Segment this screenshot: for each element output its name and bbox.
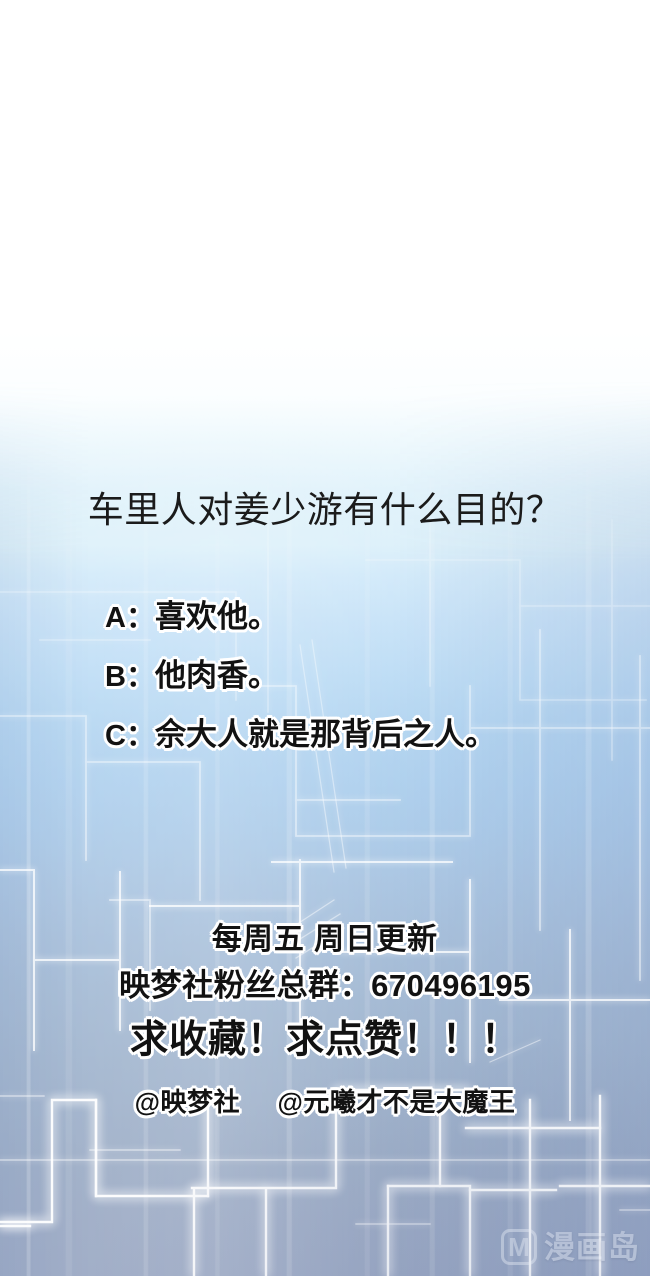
question-title: 车里人对姜少游有什么目的？	[0, 487, 650, 533]
option-c-key: C：	[105, 721, 155, 751]
manhuadao-logo-icon: M	[501, 1229, 537, 1265]
credits-handles: @映梦社 @元曦才不是大魔王	[0, 1076, 650, 1128]
comic-panel: 车里人对姜少游有什么目的？ A： 喜欢他。 B： 他肉香。 C： 佘大人就是那背…	[0, 0, 650, 1276]
answer-options-list: A： 喜欢他。 B： 他肉香。 C： 佘大人就是那背后之人。	[105, 602, 575, 779]
call-to-action-text: 求收藏！求点赞！！！	[0, 1010, 650, 1070]
promo-block: 每周五 周日更新 映梦社粉丝总群：670496195 求收藏！求点赞！！！ @映…	[0, 918, 650, 1128]
option-b-key: B：	[105, 662, 155, 692]
option-a-text: 喜欢他。	[155, 602, 279, 632]
panel-content: 车里人对姜少游有什么目的？ A： 喜欢他。 B： 他肉香。 C： 佘大人就是那背…	[0, 0, 650, 1276]
handle-primary: @映梦社	[135, 1087, 240, 1117]
option-a-key: A：	[105, 603, 155, 633]
option-b-text: 他肉香。	[155, 661, 279, 691]
option-row-a: A： 喜欢他。	[105, 602, 575, 633]
option-c-text: 佘大人就是那背后之人。	[155, 720, 496, 750]
update-schedule-text: 每周五 周日更新	[0, 918, 650, 962]
watermark-brand-text: 漫画岛	[544, 1232, 640, 1263]
option-row-c: C： 佘大人就是那背后之人。	[105, 720, 575, 751]
handle-secondary: @元曦才不是大魔王	[277, 1087, 515, 1117]
option-row-b: B： 他肉香。	[105, 661, 575, 692]
site-watermark: M 漫画岛	[501, 1229, 640, 1265]
fan-group-text: 映梦社粉丝总群：670496195	[0, 962, 650, 1010]
